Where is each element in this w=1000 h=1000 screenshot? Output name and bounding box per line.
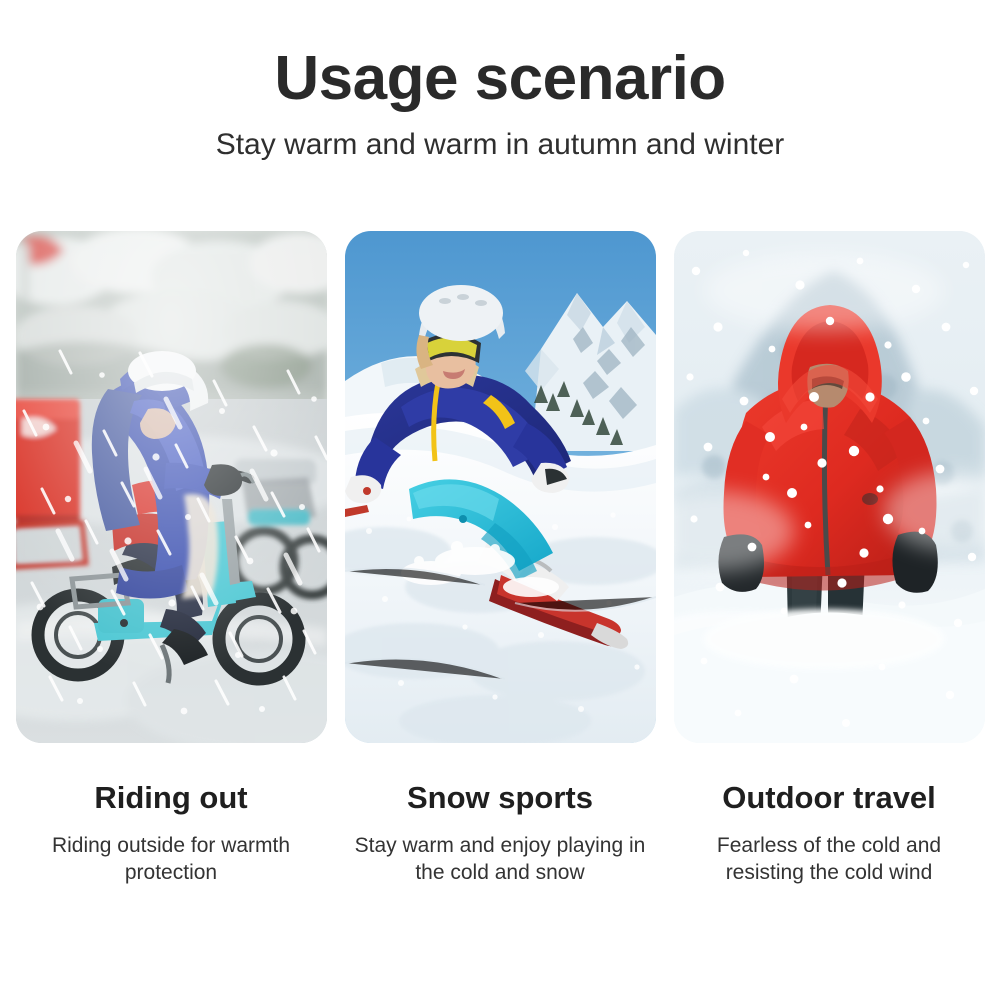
page-title: Usage scenario (0, 48, 1000, 110)
scenario-row: Riding out Riding outside for warmth pro… (0, 231, 1000, 887)
page-subtitle: Stay warm and warm in autumn and winter (0, 130, 1000, 160)
caption-description: Fearless of the cold and resisting the c… (679, 833, 979, 887)
photo-rider-scooter-snow (16, 231, 327, 743)
photo-skier-carving-slope (345, 231, 656, 743)
caption-title: Snow sports (407, 782, 593, 813)
page-header: Usage scenario Stay warm and warm in aut… (0, 0, 1000, 160)
caption-title: Riding out (94, 782, 247, 813)
caption-title: Outdoor travel (722, 782, 936, 813)
scenario-card-riding-out: Riding out Riding outside for warmth pro… (16, 231, 327, 887)
scenario-card-snow-sports: Snow sports Stay warm and enjoy playing … (345, 231, 656, 887)
caption-description: Stay warm and enjoy playing in the cold … (350, 833, 650, 887)
scenario-card-outdoor-travel: Outdoor travel Fearless of the cold and … (674, 231, 985, 887)
photo-hiker-red-jacket-blizzard (674, 231, 985, 743)
usage-scenario-page: Usage scenario Stay warm and warm in aut… (0, 0, 1000, 1000)
caption-description: Riding outside for warmth protection (21, 833, 321, 887)
